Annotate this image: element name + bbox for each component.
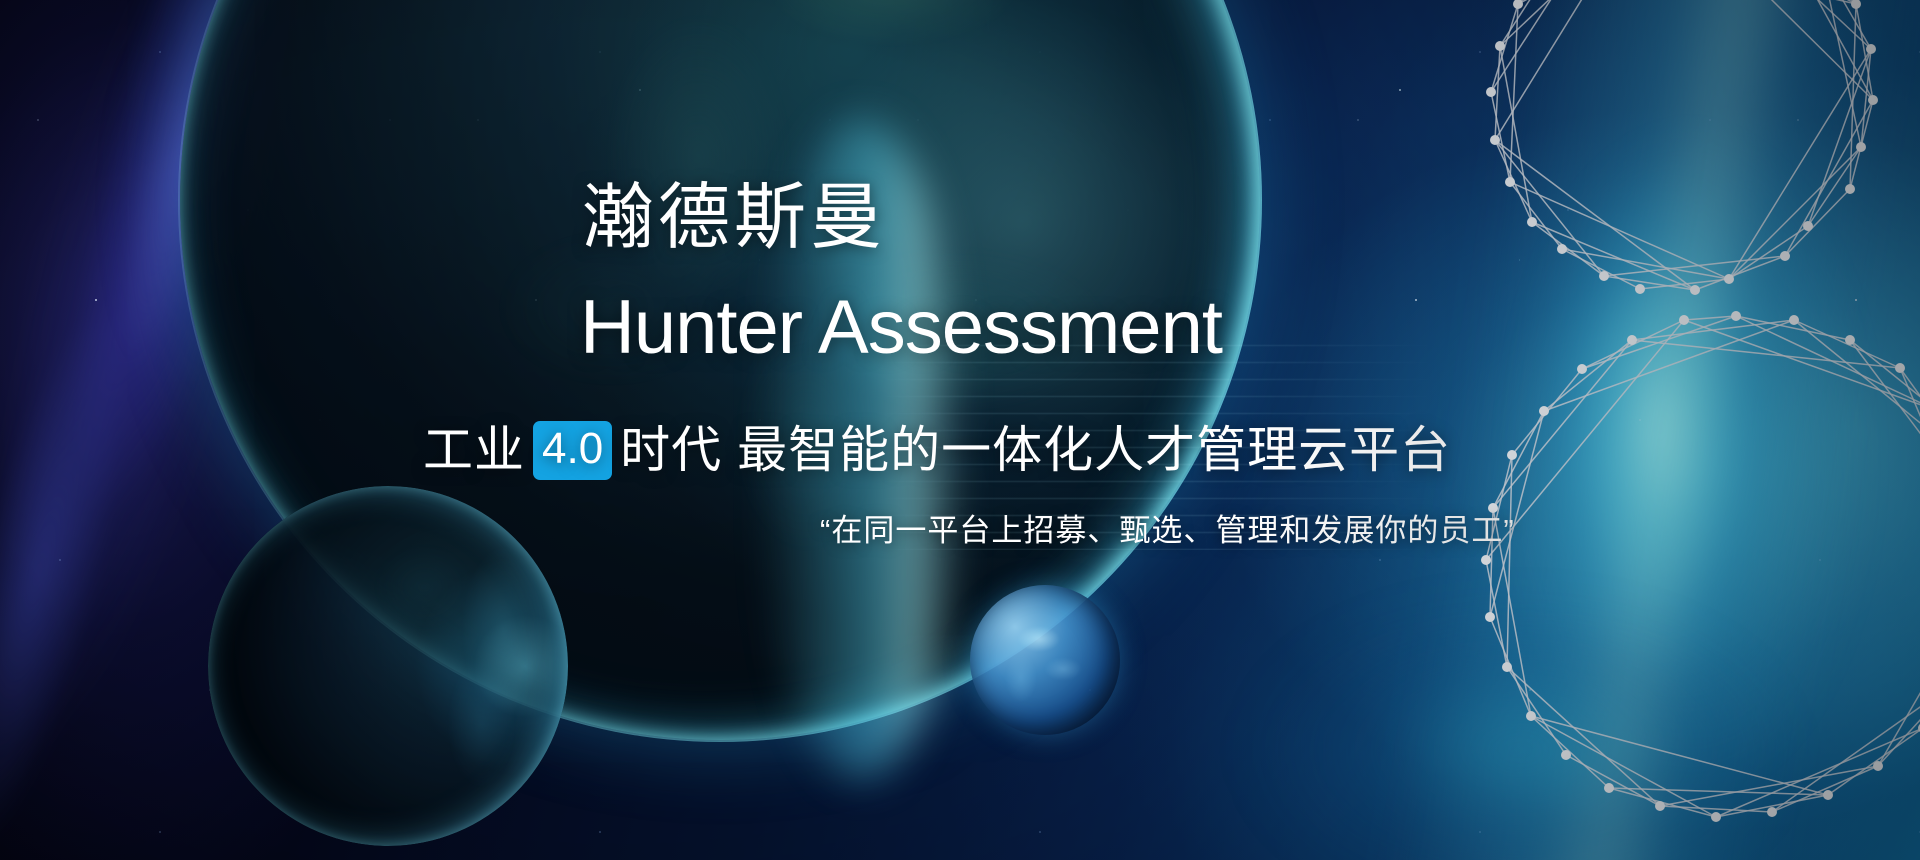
tagline: 工业 4.0 时代 最智能的一体化人才管理云平台 bbox=[423, 420, 1451, 480]
page-title-chinese: 瀚德斯曼 bbox=[582, 182, 886, 254]
tagline-prefix: 工业 bbox=[423, 420, 525, 480]
hero-banner: 瀚德斯曼 Hunter Assessment 工业 4.0 时代 最智能的一体化… bbox=[0, 0, 1920, 860]
banner-subtitle-quote: “在同一平台上招募、甄选、管理和发展你的员工” bbox=[820, 505, 1515, 550]
banner-copy: 瀚德斯曼 Hunter Assessment 工业 4.0 时代 最智能的一体化… bbox=[0, 0, 1920, 860]
page-title-english: Hunter Assessment bbox=[580, 290, 1222, 366]
industry-version-badge: 4.0 bbox=[533, 421, 612, 480]
tagline-suffix: 时代 最智能的一体化人才管理云平台 bbox=[620, 420, 1451, 480]
